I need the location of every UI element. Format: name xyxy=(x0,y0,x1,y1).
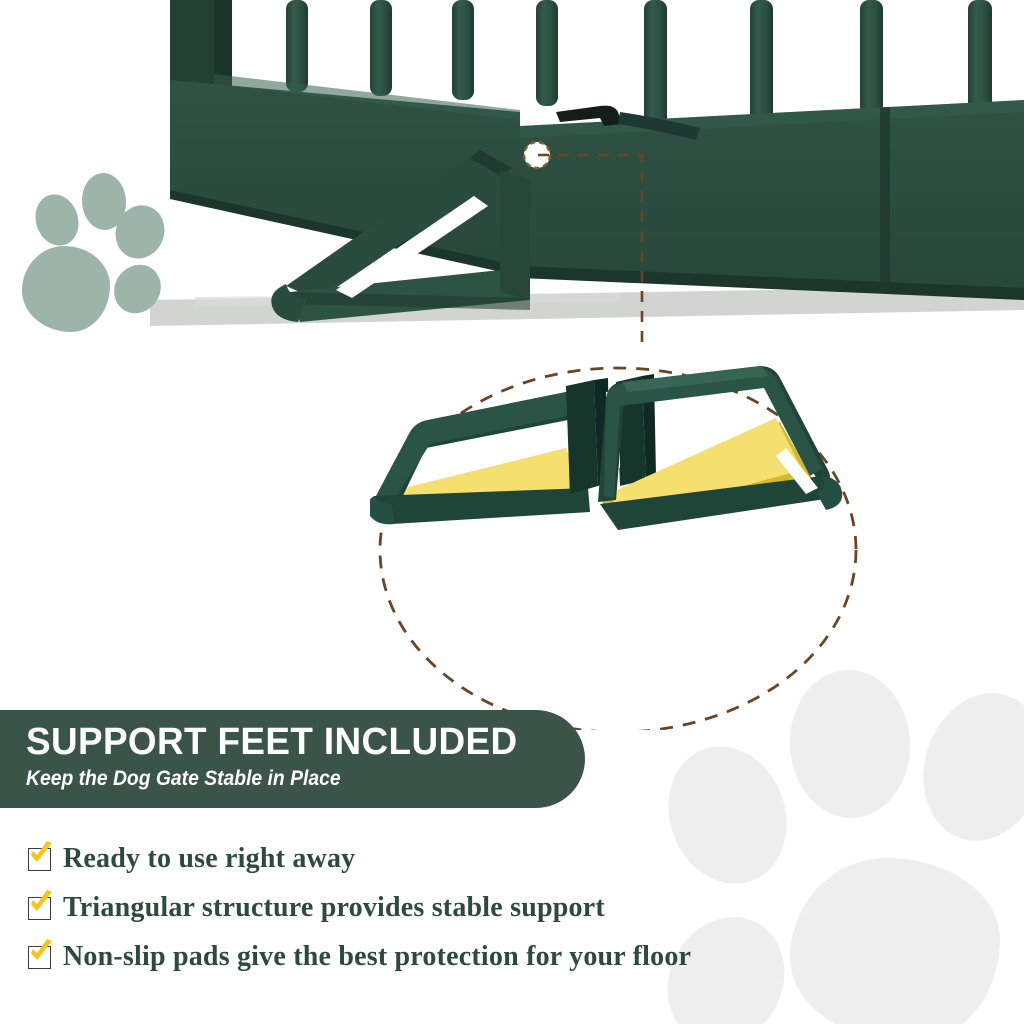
support-foot-detail-drawing xyxy=(370,366,842,530)
banner: SUPPORT FEET INCLUDED Keep the Dog Gate … xyxy=(0,710,585,808)
banner-subtitle: Keep the Dog Gate Stable in Place xyxy=(26,767,540,791)
checkbox-checked-icon xyxy=(28,848,51,871)
paw-print-sage-icon xyxy=(10,168,180,333)
checkbox-checked-icon xyxy=(28,897,51,920)
list-item: Ready to use right away xyxy=(28,836,988,882)
list-item-label: Triangular structure provides stable sup… xyxy=(63,892,605,924)
support-foot-detail-callout xyxy=(370,130,890,730)
product-feature-image: SUPPORT FEET INCLUDED Keep the Dog Gate … xyxy=(0,0,1024,1024)
list-item: Triangular structure provides stable sup… xyxy=(28,885,988,931)
checkbox-checked-icon xyxy=(28,946,51,969)
list-item-label: Non-slip pads give the best protection f… xyxy=(63,941,691,973)
callout-leader-line xyxy=(538,155,642,348)
list-item: Non-slip pads give the best protection f… xyxy=(28,934,988,980)
banner-title: SUPPORT FEET INCLUDED xyxy=(26,723,568,762)
list-item-label: Ready to use right away xyxy=(63,843,355,875)
feature-list: Ready to use right away Triangular struc… xyxy=(28,836,988,983)
